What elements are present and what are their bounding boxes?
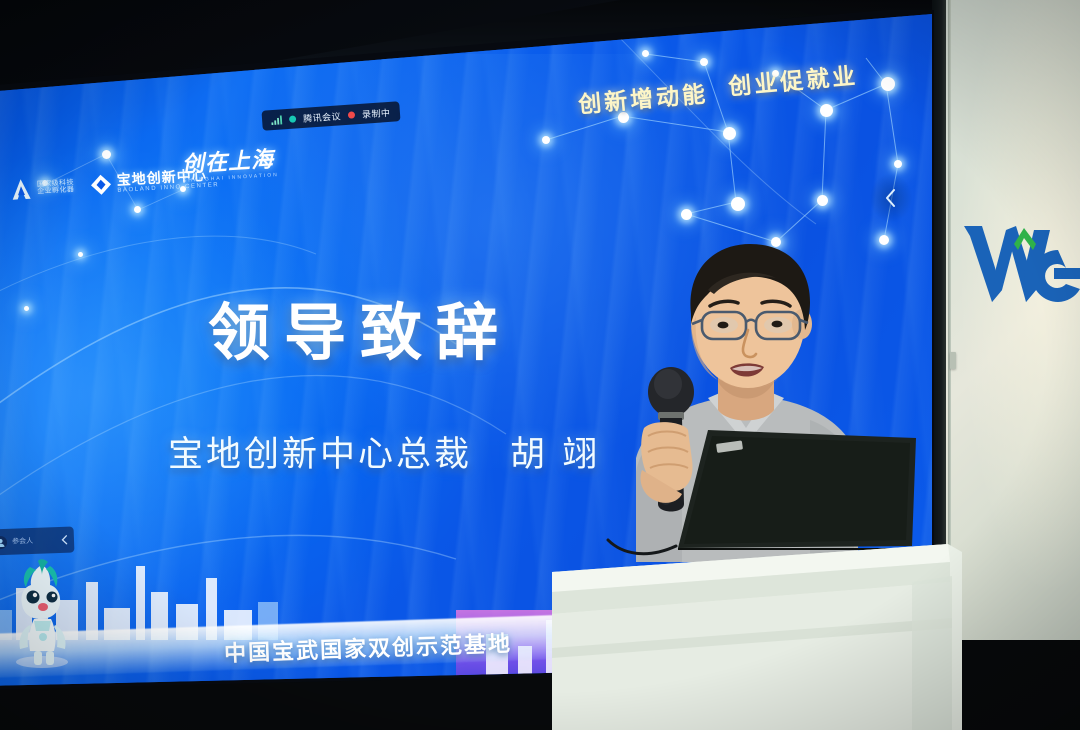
node-dot — [700, 58, 708, 66]
node-dot — [24, 306, 29, 311]
chevron-left-icon[interactable] — [884, 188, 898, 208]
node-dot — [681, 209, 692, 220]
node-dot — [731, 197, 745, 211]
microphone-cable — [606, 534, 696, 564]
slide-prev-button[interactable] — [870, 174, 912, 222]
avatar-icon — [0, 535, 7, 548]
node-dot — [881, 77, 895, 91]
node-dot — [542, 136, 550, 144]
calligraphy-logo: 创在上海 SHANGHAI INNOVATION — [181, 141, 279, 184]
we-wall-logo — [962, 216, 1080, 308]
podium — [552, 536, 962, 730]
record-dot-icon — [348, 111, 355, 118]
org-one-line2: 企业孵化器 — [37, 186, 74, 195]
participant-name: 参会人 — [12, 535, 56, 547]
slide-title: 领导致辞 — [208, 282, 512, 372]
wall-light-sheen — [946, 0, 1080, 640]
node-dot — [820, 104, 833, 117]
app-dot-icon — [289, 115, 296, 122]
participant-tile[interactable]: 参会人 — [0, 527, 74, 556]
node-dot — [642, 50, 649, 57]
node-dot — [78, 252, 83, 257]
node-dot — [102, 150, 111, 159]
node-dot — [723, 127, 736, 140]
mascot-character — [0, 557, 84, 669]
recording-status: 录制中 — [361, 105, 390, 120]
chevron-left-icon[interactable] — [61, 535, 68, 545]
wifi-signal-icon — [271, 115, 283, 125]
slide-subtitle: 宝地创新中心总裁 胡 翊 — [168, 426, 600, 477]
meeting-app-name: 腾讯会议 — [303, 109, 342, 125]
node-dot — [894, 160, 902, 168]
node-dot — [817, 195, 828, 206]
wall-switch[interactable] — [950, 352, 956, 369]
incubator-logo-icon — [9, 177, 32, 202]
baoland-mark-icon — [89, 173, 112, 196]
conference-photo-scene: 国家级科技 企业孵化器 宝地创新中心 BAOLAND INNO CENTER 创… — [0, 0, 1080, 730]
laptop — [672, 426, 918, 550]
node-dot — [134, 206, 141, 213]
